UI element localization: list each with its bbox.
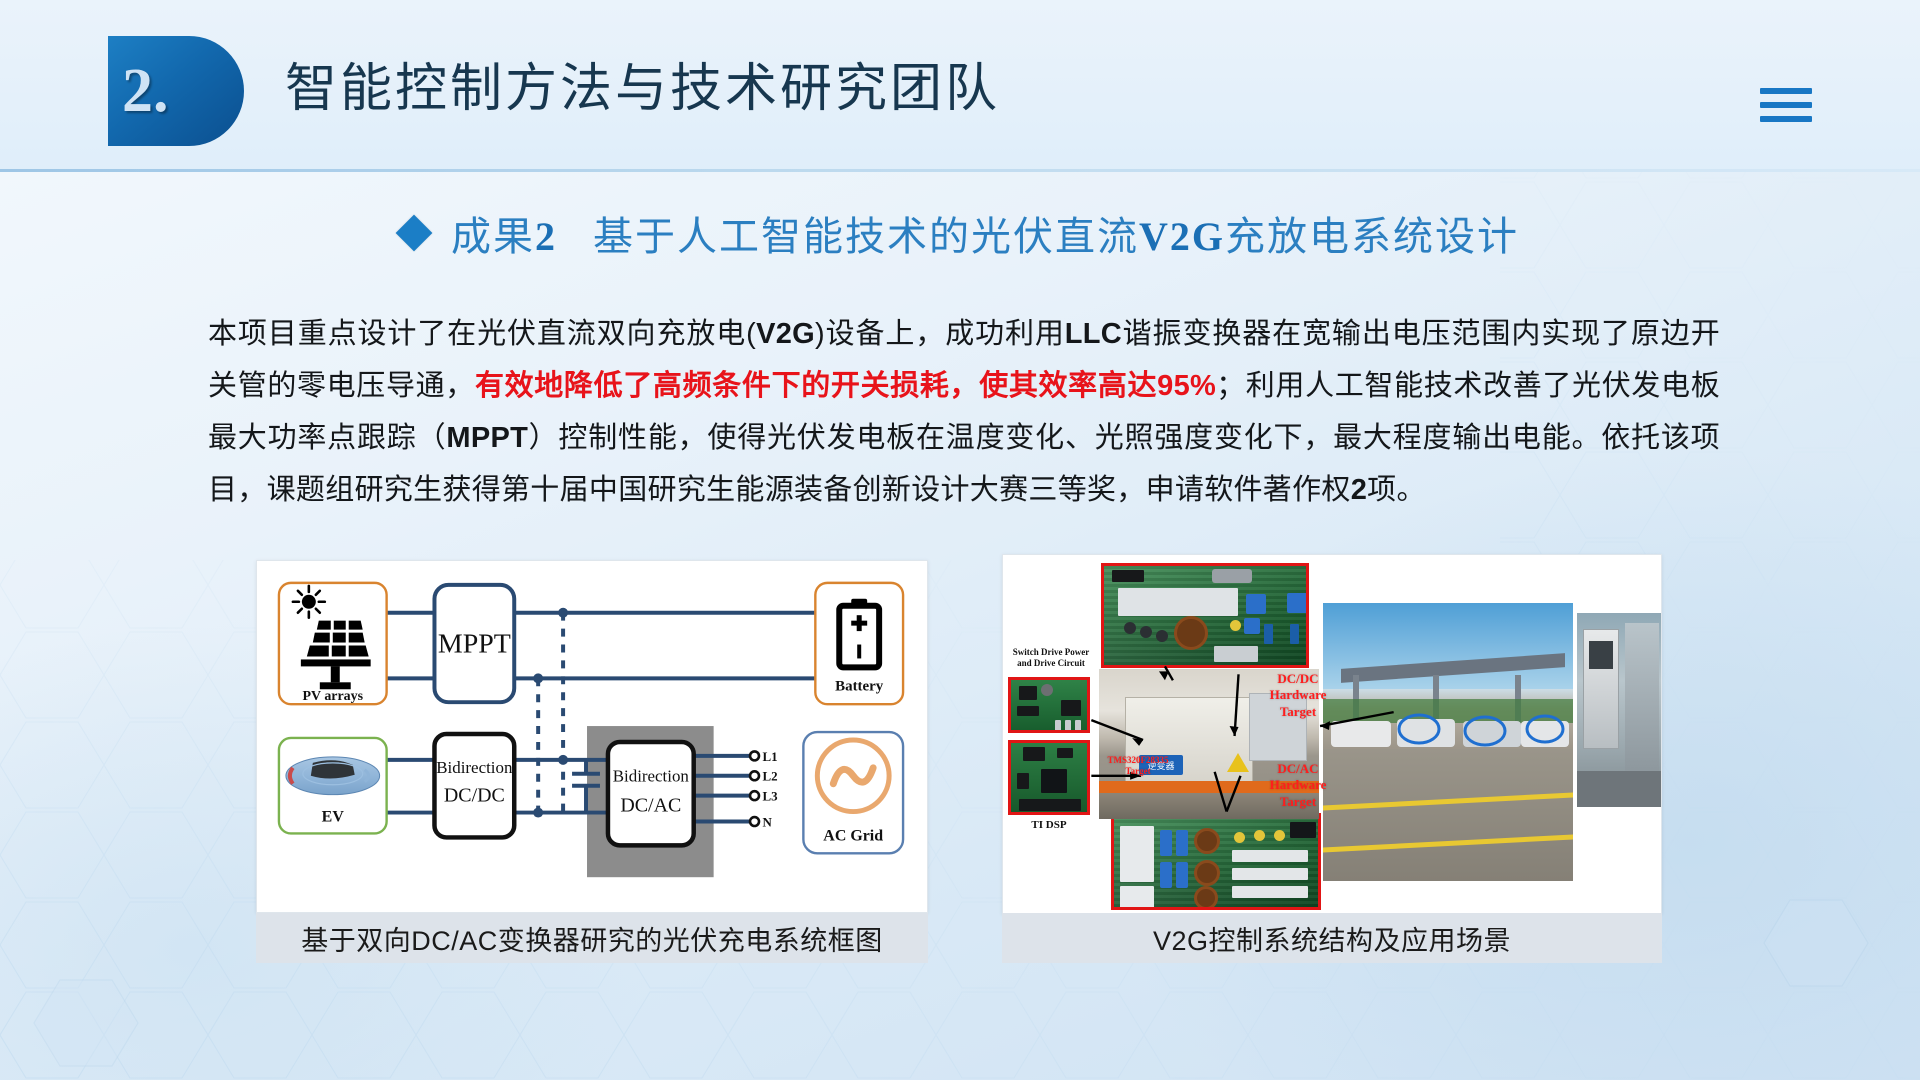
hamburger-menu-icon[interactable] [1760,88,1812,122]
collage-arrows [1003,555,1661,913]
slide-root: 2. 智能控制方法与技术研究团队 成果2基于人工智能技术的光伏直流V2G充放电系… [0,0,1920,1080]
terminal-l3: L3 [762,789,778,804]
ev-label: EV [322,809,345,826]
subtitle-v2g: V2G [1139,214,1225,259]
dcdc-label-line2: DC/DC [444,785,505,807]
annotation-dcdc-hardware-target: DC/DC Hardware Target [1243,671,1353,720]
mppt-label: MPPT [438,629,511,660]
body-mppt: MPPT [446,422,528,454]
body-seg6: 项。 [1367,474,1426,506]
battery-node: Battery [815,583,903,704]
section-number: 2. [122,56,169,127]
body-seg2: )设备上，成功利用 [815,318,1065,350]
pv-v2g-block-diagram: PV arrays MPPT Battery [257,561,927,912]
electric-vehicle-icon [286,757,380,795]
ev-node: EV [279,738,387,833]
body-count-2: 2 [1351,474,1367,506]
bidirectional-dcdc-node: Bidirection DC/DC [434,734,514,837]
page-title: 智能控制方法与技术研究团队 [285,46,1000,121]
sun-icon [293,586,325,618]
annotation-dcac-hardware-target: DC/AC Hardware Target [1243,761,1353,810]
dcac-label-line1: Bidirection [613,767,690,786]
body-paragraph: 本项目重点设计了在光伏直流双向充放电(V2G)设备上，成功利用LLC谐振变换器在… [208,308,1720,516]
pv-arrays-label: PV arrays [303,689,364,704]
annotation-tms320-target: TMS320F28335 Target [1085,755,1191,778]
terminal-n: N [762,815,772,830]
mppt-node: MPPT [434,585,514,702]
dcdc-label-line1: Bidirection [436,758,513,777]
subtitle-label-number: 2 [535,214,557,259]
body-seg1: 本项目重点设计了在光伏直流双向充放电( [208,318,756,350]
terminal-l1: L1 [762,749,777,764]
figure-right-caption: V2G控制系统结构及应用场景 [1002,913,1662,963]
annotation-switch-drive: Switch Drive Power and Drive Circuit [1005,647,1097,669]
body-llc: LLC [1065,318,1122,350]
subtitle-label: 成果 [451,214,535,259]
battery-label: Battery [835,678,884,694]
diamond-bullet-icon [396,215,433,252]
terminal-l2: L2 [762,769,777,784]
subtitle-text-a: 基于人工智能技术的光伏直流 [593,214,1139,259]
bidirectional-dcac-node: Bidirection DC/AC [608,742,694,845]
dcac-label-line2: DC/AC [620,795,681,817]
figure-right-photo-collage: 逆变器 [1002,554,1662,914]
subtitle: 成果2基于人工智能技术的光伏直流V2G充放电系统设计 [0,204,1920,262]
pv-arrays-node: PV arrays [279,583,387,704]
figure-left-block-diagram: PV arrays MPPT Battery [256,560,928,913]
subtitle-text-b: 充放电系统设计 [1225,214,1519,259]
annotation-ti-dsp: TI DSP [1009,819,1089,832]
subtitle-text: 成果2基于人工智能技术的光伏直流V2G充放电系统设计 [451,204,1519,262]
header-divider [0,169,1920,172]
ac-terminals: L1 L2 L3 N [750,749,778,830]
ac-grid-label: AC Grid [823,827,883,844]
section-number-badge: 2. [108,36,244,146]
body-highlight-red: 有效地降低了高频条件下的开关损耗，使其效率高达95% [475,370,1216,402]
figure-left-caption: 基于双向DC/AC变换器研究的光伏充电系统框图 [256,913,928,963]
ac-grid-node: AC Grid [803,732,903,853]
body-v2g: V2G [756,318,815,350]
